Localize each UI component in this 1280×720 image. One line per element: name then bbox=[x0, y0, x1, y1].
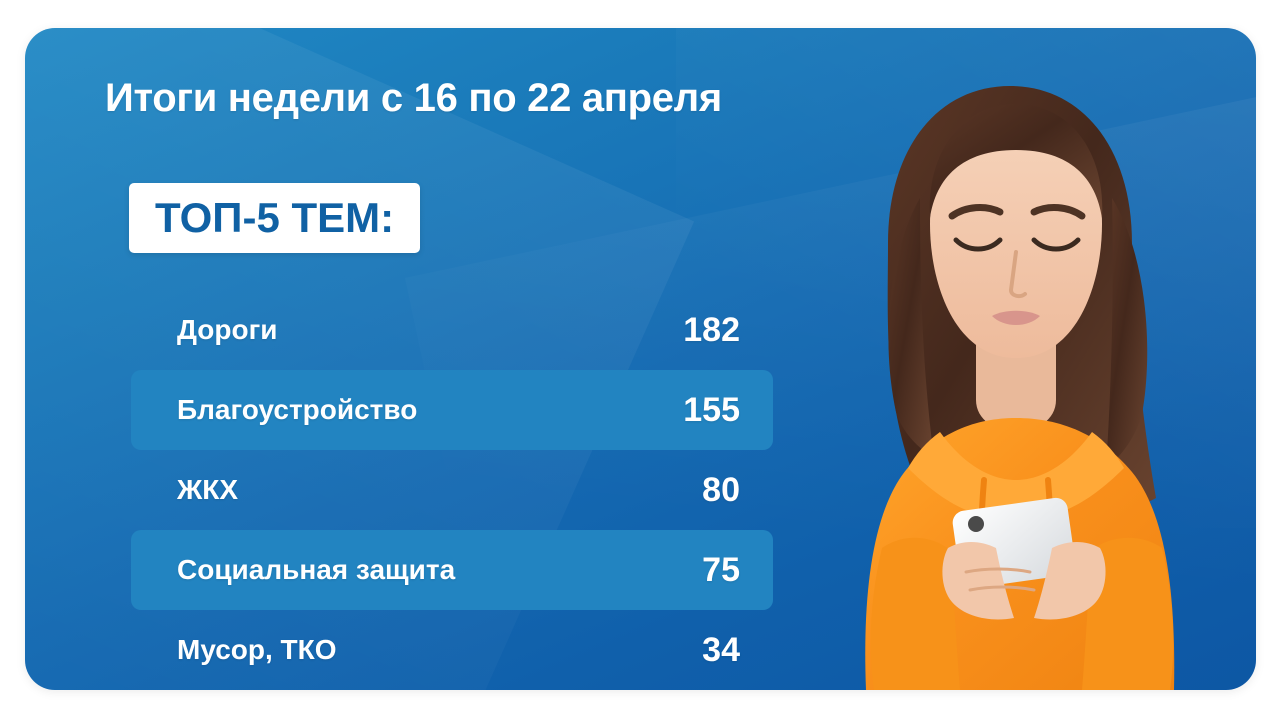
topic-value: 75 bbox=[702, 551, 740, 590]
topic-label: Социальная защита bbox=[177, 554, 455, 586]
top5-badge-label: ТОП-5 ТЕМ: bbox=[155, 197, 394, 239]
topic-row: Мусор, ТКО34 bbox=[131, 610, 773, 690]
topic-label: Благоустройство bbox=[177, 394, 417, 426]
page-title: Итоги недели с 16 по 22 апреля bbox=[105, 76, 722, 121]
poster-canvas: Итоги недели с 16 по 22 апреля ТОП-5 ТЕМ… bbox=[0, 0, 1280, 720]
smartphone-icon bbox=[951, 496, 1077, 589]
topic-value: 182 bbox=[683, 311, 740, 350]
info-card: Итоги недели с 16 по 22 апреля ТОП-5 ТЕМ… bbox=[25, 28, 1256, 690]
person-icon bbox=[770, 28, 1256, 690]
topic-label: Дороги bbox=[177, 314, 277, 346]
topic-value: 155 bbox=[683, 391, 740, 430]
topic-value: 34 bbox=[702, 631, 740, 670]
topic-value: 80 bbox=[702, 471, 740, 510]
topic-label: ЖКХ bbox=[177, 474, 238, 506]
woman-with-smartphone-illustration bbox=[770, 28, 1256, 690]
topic-row: Социальная защита75 bbox=[131, 530, 773, 610]
topic-row: Благоустройство155 bbox=[131, 370, 773, 450]
topic-row: Дороги182 bbox=[131, 290, 773, 370]
top5-badge: ТОП-5 ТЕМ: bbox=[129, 183, 420, 253]
topics-list: Дороги182Благоустройство155ЖКХ80Социальн… bbox=[131, 290, 773, 690]
topic-label: Мусор, ТКО bbox=[177, 634, 337, 666]
topic-row: ЖКХ80 bbox=[131, 450, 773, 530]
